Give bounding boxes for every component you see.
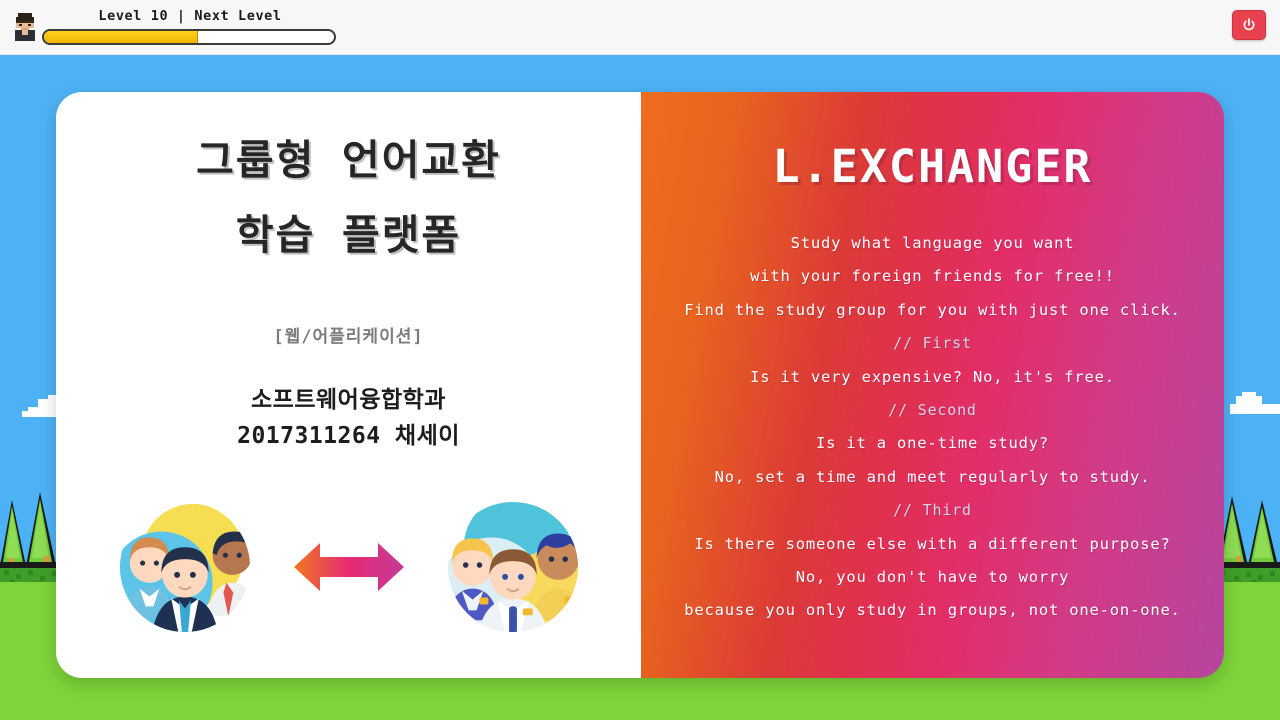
group-people-illustration-right <box>444 498 582 636</box>
exchange-arrow-wrap <box>294 535 404 599</box>
copy-line: because you only study in groups, not on… <box>657 594 1208 627</box>
power-icon <box>1241 17 1257 33</box>
description-copy: Study what language you wantwith your fo… <box>641 227 1224 628</box>
page-subtitle: [웹/어플리케이션] <box>56 322 641 347</box>
student-label: 2017311264 채세이 <box>56 416 641 450</box>
page-title-line1: 그룹형 언어교환 <box>56 140 641 181</box>
copy-line: No, you don't have to worry <box>657 561 1208 594</box>
cloud-icon <box>1228 392 1280 418</box>
level-label: Level 10 | Next Level <box>44 8 336 24</box>
presentation-card: 그룹형 언어교환 학습 플랫폼 [웹/어플리케이션] 소프트웨어융합학과 201… <box>56 92 1224 678</box>
right-panel: L.EXCHANGER Study what language you want… <box>641 92 1224 678</box>
brand-title: L.EXCHANGER <box>641 140 1224 193</box>
copy-heading: // Third <box>657 494 1208 527</box>
player-avatar[interactable] <box>8 9 42 45</box>
illustration-row <box>56 492 641 642</box>
group-people-illustration-left <box>116 498 254 636</box>
top-status-bar: Level 10 | Next Level <box>0 0 1280 55</box>
power-button[interactable] <box>1232 10 1266 40</box>
copy-line: Is it a one-time study? <box>657 427 1208 460</box>
copy-line: Study what language you want <box>657 227 1208 260</box>
department-label: 소프트웨어융합학과 <box>56 380 641 414</box>
copy-line: Find the study group for you with just o… <box>657 294 1208 327</box>
page-title-line2: 학습 플랫폼 <box>56 215 641 256</box>
left-panel: 그룹형 언어교환 학습 플랫폼 [웹/어플리케이션] 소프트웨어융합학과 201… <box>56 92 641 678</box>
title-block: 그룹형 언어교환 학습 플랫폼 <box>56 140 641 256</box>
app-root: 그룹형 언어교환 학습 플랫폼 [웹/어플리케이션] 소프트웨어융합학과 201… <box>0 0 1280 720</box>
copy-line: No, set a time and meet regularly to stu… <box>657 461 1208 494</box>
xp-progress-bar <box>42 29 336 45</box>
xp-progress-fill <box>44 31 198 43</box>
copy-heading: // First <box>657 327 1208 360</box>
copy-line: with your foreign friends for free!! <box>657 260 1208 293</box>
copy-line: Is there someone else with a different p… <box>657 528 1208 561</box>
copy-line: Is it very expensive? No, it's free. <box>657 361 1208 394</box>
copy-heading: // Second <box>657 394 1208 427</box>
double-arrow-icon <box>294 535 404 599</box>
